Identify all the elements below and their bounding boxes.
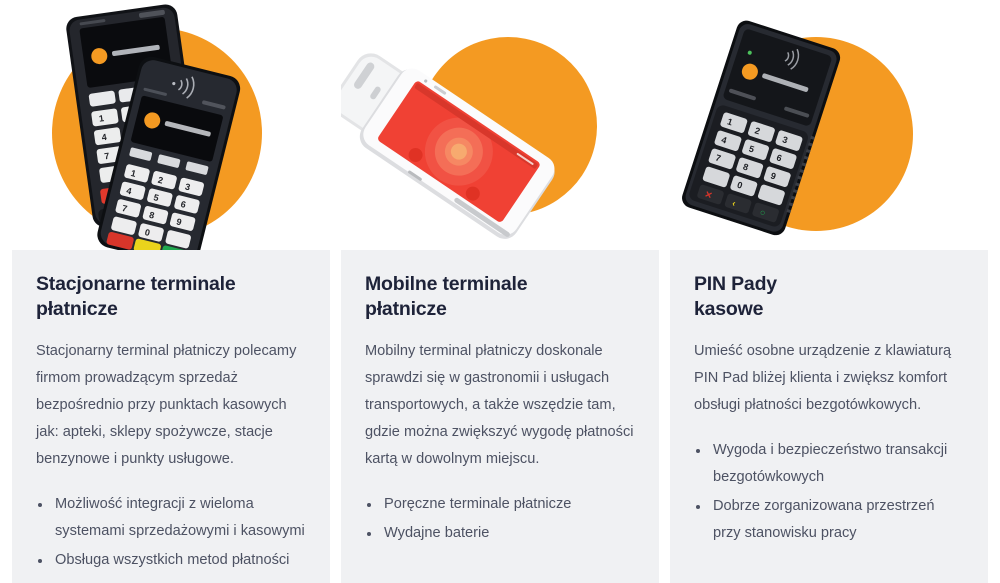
list-item-label: Możliwość integracji z wieloma systemami… [55, 496, 305, 539]
bullet-icon [696, 505, 700, 509]
bullet-icon [38, 559, 42, 563]
product-columns: 123 456 789 0 [0, 0, 1000, 583]
card-description: Mobilny terminal płatniczy doskonale spr… [365, 338, 635, 473]
bullet-icon [696, 449, 700, 453]
card-body: Mobilne terminale płatnicze Mobilny term… [341, 250, 659, 583]
card-title: PIN Pady kasowe [694, 272, 964, 322]
card-description: Umieść osobne urządzenie z klawiaturą PI… [694, 338, 964, 419]
stationary-payment-terminals-photo: 123 456 789 0 [12, 0, 330, 250]
card-feature-list: Wygoda i bezpieczeństwo transakcji bezgo… [694, 437, 964, 547]
list-item: Wydajne baterie [365, 520, 635, 547]
list-item: Obsługa wszystkich metod płatności [36, 547, 306, 574]
card-body: Stacjonarne terminale płatnicze Stacjona… [12, 250, 330, 583]
pin-pad-photo: 123 456 789 0 ✕ ‹ ○ [670, 0, 988, 250]
list-item-label: Dobrze zorganizowana przestrzeń przy sta… [713, 498, 934, 541]
list-item-label: Obsługa wszystkich metod płatności [55, 552, 289, 568]
list-item: Wygoda i bezpieczeństwo transakcji bezgo… [694, 437, 964, 491]
card-title: Stacjonarne terminale płatnicze [36, 272, 306, 322]
list-item-label: Poręczne terminale płatnicze [384, 496, 571, 512]
mobile-payment-terminal-photo [341, 0, 659, 250]
list-item-label: Wygoda i bezpieczeństwo transakcji bezgo… [713, 442, 947, 485]
card-body: PIN Pady kasowe Umieść osobne urządzenie… [670, 250, 988, 583]
product-categories-section: 123 456 789 0 [0, 0, 1000, 583]
product-card-mobile-terminals[interactable]: Mobilne terminale płatnicze Mobilny term… [341, 0, 659, 583]
list-item: Możliwość integracji z wieloma systemami… [36, 491, 306, 545]
product-card-pin-pads[interactable]: 123 456 789 0 ✕ ‹ ○ [670, 0, 988, 583]
product-card-stationary-terminals[interactable]: 123 456 789 0 [12, 0, 330, 583]
card-title: Mobilne terminale płatnicze [365, 272, 635, 322]
bullet-icon [367, 503, 371, 507]
list-item: Poręczne terminale płatnicze [365, 491, 635, 518]
card-feature-list: Możliwość integracji z wieloma systemami… [36, 491, 306, 574]
bullet-icon [38, 503, 42, 507]
card-feature-list: Poręczne terminale płatnicze Wydajne bat… [365, 491, 635, 547]
list-item: Dobrze zorganizowana przestrzeń przy sta… [694, 493, 964, 547]
card-description: Stacjonarny terminal płatniczy polecamy … [36, 338, 306, 473]
bullet-icon [367, 532, 371, 536]
list-item-label: Wydajne baterie [384, 525, 489, 541]
